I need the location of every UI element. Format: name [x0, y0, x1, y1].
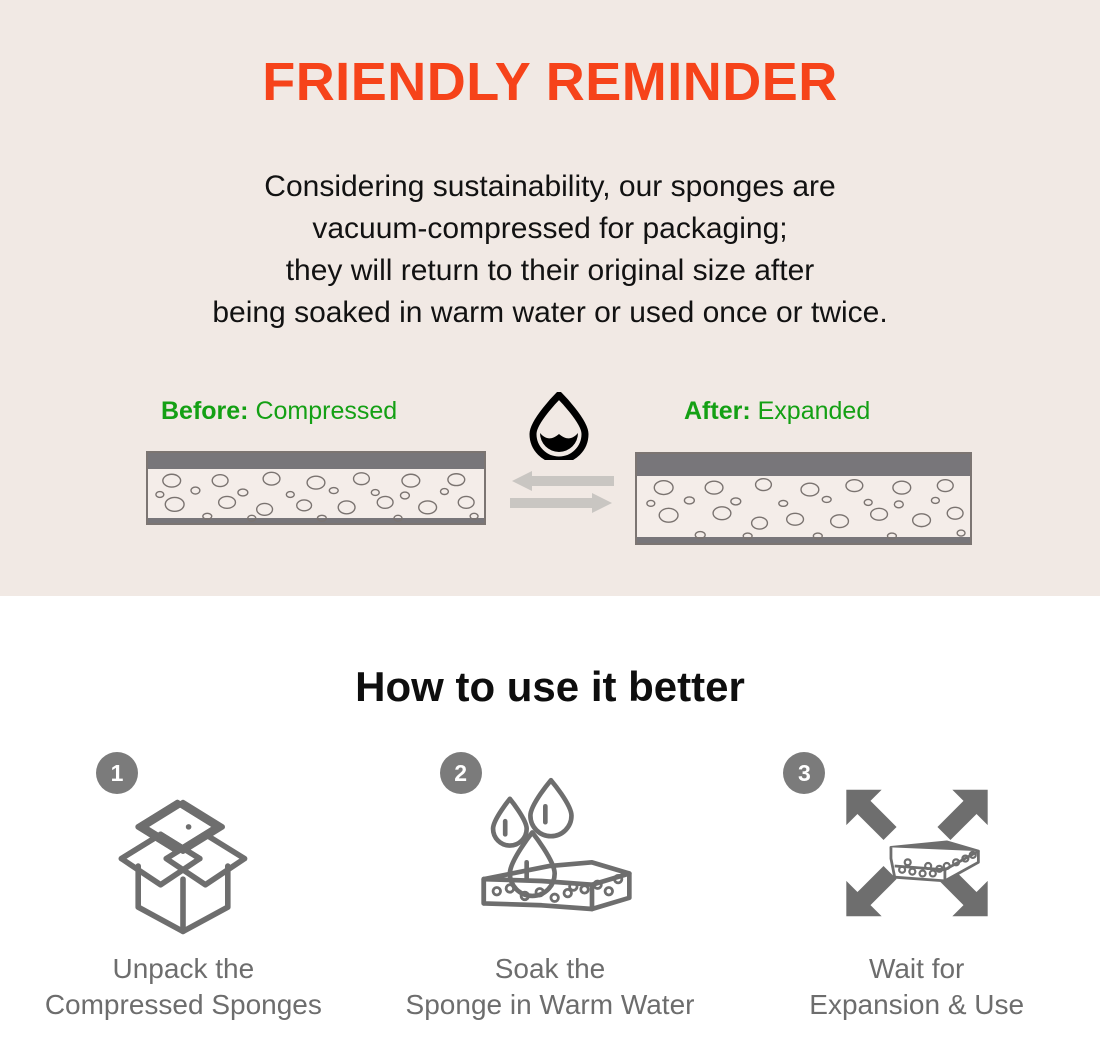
caption-line-1: Unpack the: [0, 951, 367, 987]
step-item: 2: [367, 744, 734, 1039]
body-line-3: they will return to their original size …: [0, 250, 1100, 292]
step-caption: Unpack the Compressed Sponges: [0, 951, 367, 1023]
caption-line-1: Wait for: [733, 951, 1100, 987]
sponge-pores: [148, 453, 484, 525]
caption-line-2: Compressed Sponges: [0, 987, 367, 1023]
how-to-use-panel: How to use it better 1: [0, 596, 1100, 1039]
before-label-light: Compressed: [255, 397, 397, 425]
body-line-4: being soaked in warm water or used once …: [0, 292, 1100, 334]
two-way-transfer-arrows-icon: [510, 470, 614, 514]
four-way-expansion-arrows-sponge-icon: [733, 768, 1100, 938]
compressed-sponge-icon: [146, 451, 486, 525]
page-title: FRIENDLY REMINDER: [0, 55, 1100, 109]
infographic-page: FRIENDLY REMINDER Considering sustainabi…: [0, 0, 1100, 1039]
before-label-strong: Before:: [161, 397, 249, 425]
body-line-2: vacuum-compressed for packaging;: [0, 208, 1100, 250]
step-caption: Wait for Expansion & Use: [733, 951, 1100, 1023]
open-box-icon: [0, 768, 367, 938]
sponge-pores: [637, 454, 970, 545]
after-label-strong: After:: [684, 397, 751, 425]
water-drops-on-sponge-icon: [367, 768, 734, 938]
caption-line-1: Soak the: [367, 951, 734, 987]
step-caption: Soak the Sponge in Warm Water: [367, 951, 734, 1023]
steps-list: 1: [0, 744, 1100, 1039]
after-label-light: Expanded: [758, 397, 871, 425]
step-item: 1: [0, 744, 367, 1039]
water-drop-icon: [521, 392, 597, 460]
caption-line-2: Expansion & Use: [733, 987, 1100, 1023]
section-heading: How to use it better: [0, 663, 1100, 711]
before-label: Before: Compressed: [161, 397, 397, 426]
body-line-1: Considering sustainability, our sponges …: [0, 166, 1100, 208]
reminder-body-text: Considering sustainability, our sponges …: [0, 166, 1100, 334]
expanded-sponge-icon: [635, 452, 972, 545]
friendly-reminder-panel: FRIENDLY REMINDER Considering sustainabi…: [0, 0, 1100, 596]
step-item: 3: [733, 744, 1100, 1039]
after-label: After: Expanded: [684, 397, 870, 426]
caption-line-2: Sponge in Warm Water: [367, 987, 734, 1023]
